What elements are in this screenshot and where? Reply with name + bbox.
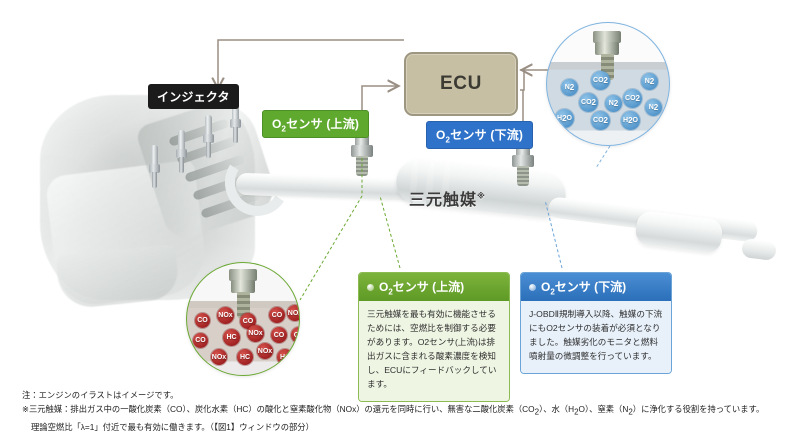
- bullet-dot-icon: [529, 284, 536, 291]
- o2-upstream-label-o: O: [272, 117, 282, 131]
- o2-downstream-label-o: O: [436, 128, 446, 142]
- molecule-h2o: H2O: [555, 109, 574, 128]
- molecule-nox: NOx: [217, 307, 234, 324]
- molecule-nox: NOx: [247, 325, 264, 342]
- molecule-n2: N2: [605, 95, 622, 112]
- molecule-co: CO: [271, 327, 287, 343]
- molecule-n2: N2: [561, 79, 578, 96]
- callout-upstream-header: O2センサ (上流): [359, 273, 509, 301]
- molecule-co2: CO2: [579, 93, 598, 112]
- footnote-line-2: ※三元触媒：排出ガス中の一酸化炭素（CO）、炭化水素（HC）の酸化と窒素酸化物（…: [22, 402, 782, 419]
- molecule-co: CO: [193, 333, 208, 348]
- ecu-box: ECU: [404, 52, 518, 116]
- o2-upstream-label-main: センサ (上流): [286, 117, 359, 131]
- callout-o2-upstream: O2センサ (上流) 三元触媒を最も有効に機能させるためには、空燃比を制御する必…: [358, 272, 510, 402]
- molecule-n2: N2: [641, 73, 658, 90]
- footnote-line-3: 理論空燃比「λ=1」付近で最も有効に働きます。（【図1】ウィンドウの部分）: [22, 420, 782, 434]
- molecule-nox: NOx: [211, 349, 227, 365]
- o2-downstream-label-main: センサ (下流): [450, 128, 523, 142]
- footnotes: 注：エンジンのイラストはイメージです。 ※三元触媒：排出ガス中の一酸化炭素（CO…: [22, 388, 782, 434]
- molecule-co: CO: [269, 307, 285, 323]
- callout-upstream-title: O2センサ (上流): [379, 278, 464, 296]
- o2-downstream-label: O2センサ (下流): [426, 121, 533, 149]
- inset-upstream-exhaust: NOx CO CO CO NOx CO HC NOx CO CO NOx HC …: [186, 262, 300, 376]
- molecule-nox: NOx: [287, 305, 300, 321]
- footnote-line-1: 注：エンジンのイラストはイメージです。: [22, 388, 782, 402]
- molecule-hc: HC: [223, 329, 240, 346]
- callout-downstream-body: J-OBDⅡ規制導入以降、触媒の下流にもO2センサの装着が必須となりました。触媒…: [521, 301, 671, 373]
- molecule-n2: N2: [645, 99, 662, 116]
- molecule-co2: CO2: [591, 71, 610, 90]
- molecule-nox: NOx: [257, 343, 273, 359]
- catalyst-footnote-mark: ※: [477, 192, 486, 201]
- diagram-canvas: ECU インジェクタ O2センサ (上流) O2センサ (下流) 三元触媒※ N…: [0, 0, 800, 447]
- inset-downstream-exhaust: N2 CO2 N2 CO2 CO2 N2 H2O CO2 H2O N2: [546, 22, 670, 146]
- callout-o2-downstream: O2センサ (下流) J-OBDⅡ規制導入以降、触媒の下流にもO2センサの装着が…: [520, 272, 672, 374]
- molecule-co2: CO2: [591, 111, 610, 130]
- molecule-hc: HC: [277, 349, 293, 365]
- callout-downstream-header: O2センサ (下流): [521, 273, 671, 301]
- callout-downstream-title: O2センサ (下流): [541, 278, 626, 296]
- bullet-dot-icon: [367, 284, 374, 291]
- molecule-h2o: H2O: [621, 111, 640, 130]
- callout-upstream-body: 三元触媒を最も有効に機能させるためには、空燃比を制御する必要があります。O2セン…: [359, 301, 509, 401]
- catalyst-label-text: 三元触媒: [409, 192, 477, 209]
- catalyst-label: 三元触媒※: [409, 186, 486, 210]
- molecule-hc: HC: [237, 349, 253, 365]
- molecule-co: CO: [195, 313, 210, 328]
- o2-upstream-label: O2センサ (上流): [262, 110, 369, 138]
- molecule-co: CO: [291, 327, 300, 343]
- molecule-co2: CO2: [623, 89, 642, 108]
- injector-label: インジェクタ: [148, 84, 239, 109]
